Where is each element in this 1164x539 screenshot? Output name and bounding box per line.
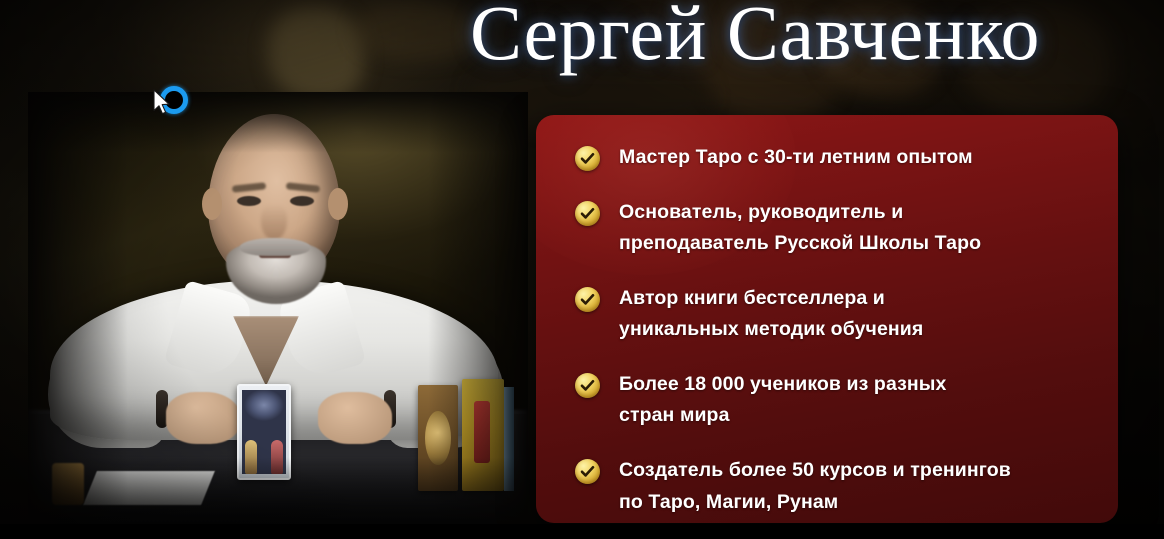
benefits-panel: Мастер Таро с 30-ти летним опытом Основа… [536,115,1118,523]
benefits-list: Мастер Таро с 30-ти летним опытом Основа… [575,142,1098,518]
page-title: Сергей Савченко [470,0,1142,72]
check-circle-icon [575,459,600,484]
list-item-label: Автор книги бестселлера и уникальных мет… [619,283,923,346]
arrow-cursor [152,89,172,122]
check-circle-icon [575,201,600,226]
list-item-label: Основатель, руководитель и преподаватель… [619,197,981,260]
list-item-label: Мастер Таро с 30-ти летним опытом [619,142,973,174]
check-circle-icon [575,373,600,398]
list-item: Более 18 000 учеников из разных стран ми… [575,369,1098,432]
list-item: Мастер Таро с 30-ти летним опытом [575,142,1098,174]
list-item-label: Создатель более 50 курсов и тренингов по… [619,455,1011,518]
list-item: Создатель более 50 курсов и тренингов по… [575,455,1098,518]
list-item: Основатель, руководитель и преподаватель… [575,197,1098,260]
check-circle-icon [575,287,600,312]
hero-banner: Сергей Савченко Мастер Таро с 30-ти летн… [0,0,1164,539]
bottom-letterbox [0,524,1164,539]
list-item-label: Более 18 000 учеников из разных стран ми… [619,369,947,432]
list-item: Автор книги бестселлера и уникальных мет… [575,283,1098,346]
check-circle-icon [575,146,600,171]
